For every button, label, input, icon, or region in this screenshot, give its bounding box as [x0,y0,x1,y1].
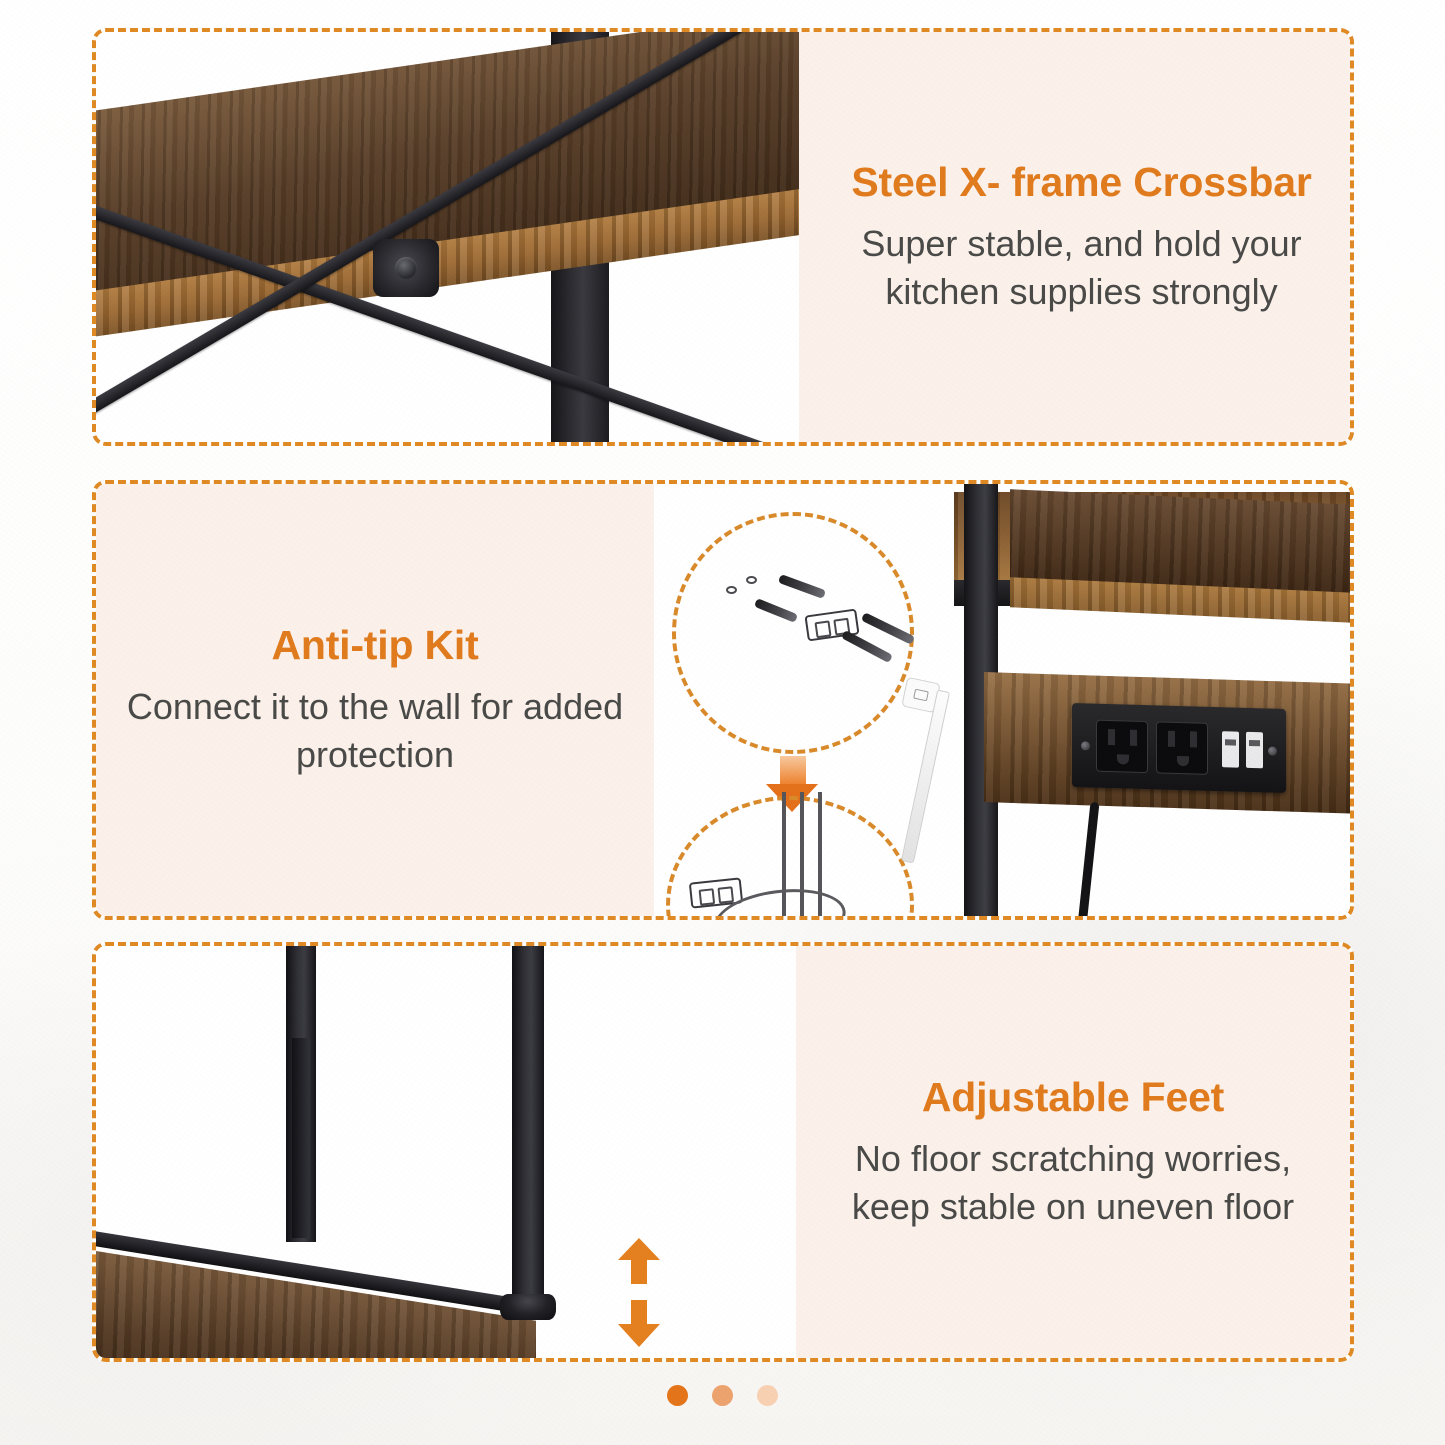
carousel-indicator [0,1385,1445,1413]
washer-icon [746,576,757,584]
feature-panel-anti-tip-kit: Anti-tip Kit Connect it to the wall for … [92,480,1354,920]
adjustable-foot [500,1294,556,1320]
usb-port [1222,731,1239,767]
leg-support-rail [292,1038,310,1238]
feature-text-adjustable-feet: Adjustable Feet No floor scratching worr… [796,946,1350,1358]
ac-socket [1156,721,1208,774]
feature-panel-adjustable-feet: Adjustable Feet No floor scratching worr… [92,942,1354,1362]
infographic-page: Steel X- frame Crossbar Super stable, an… [0,0,1445,1445]
feature-title: Anti-tip Kit [271,622,478,669]
feature-description: No floor scratching worries, keep stable… [822,1135,1324,1231]
carousel-dot-active[interactable] [667,1385,688,1406]
hardware-callout-circle [672,512,914,754]
feature-panel-steel-x-frame-crossbar: Steel X- frame Crossbar Super stable, an… [92,28,1354,446]
power-outlet-strip [1072,703,1286,793]
arrow-down-icon [618,1300,660,1348]
usb-port [1246,732,1263,768]
power-cord [1078,802,1100,916]
crossbar-center-bolt [373,239,439,297]
outlet-screw [1268,746,1277,755]
product-photo-adjustable-feet [96,946,796,1358]
cable-tie [901,690,950,864]
feature-text-anti-tip: Anti-tip Kit Connect it to the wall for … [96,484,654,916]
height-adjust-arrows [618,1238,660,1348]
arrow-up-icon [618,1238,660,1284]
carousel-dot-inactive[interactable] [757,1385,778,1406]
ac-socket [1096,720,1148,773]
carousel-dot-inactive[interactable] [712,1385,733,1406]
feature-text-x-frame: Steel X- frame Crossbar Super stable, an… [799,32,1350,442]
feature-title: Steel X- frame Crossbar [851,159,1311,206]
feature-description: Super stable, and hold your kitchen supp… [839,220,1324,316]
washer-icon [726,586,737,594]
feature-description: Connect it to the wall for added protect… [122,683,628,779]
feature-title: Adjustable Feet [922,1074,1224,1121]
product-photo-x-frame [96,32,799,442]
front-leg [512,946,544,1300]
product-photo-anti-tip [654,484,1350,916]
outlet-screw [1081,741,1090,750]
